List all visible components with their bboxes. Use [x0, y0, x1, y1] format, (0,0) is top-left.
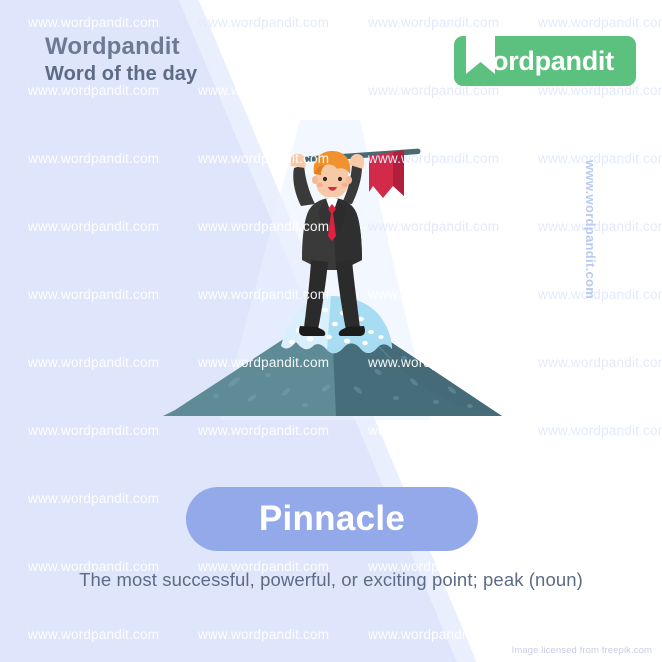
- word-of-the-day: Pinnacle: [259, 499, 405, 539]
- logo-text: ordpandit: [492, 36, 614, 86]
- page-title: Wordpandit: [45, 34, 197, 60]
- brand-block: Wordpandit Word of the day: [45, 34, 197, 86]
- word-definition: The most successful, powerful, or exciti…: [0, 569, 662, 591]
- image-credit: Image licensed from freepik.com: [512, 645, 652, 656]
- watermark-side-vertical: www.wordpandit.com: [583, 160, 598, 299]
- word-pill: Pinnacle: [186, 487, 478, 551]
- bookmark-icon: [466, 28, 495, 80]
- illustration-businessman-on-peak: [0, 120, 662, 430]
- word-of-the-day-card: www.wordpandit.comwww.wordpandit.comwww.…: [0, 0, 662, 662]
- wordpandit-logo[interactable]: ordpandit: [454, 36, 636, 86]
- page-subtitle: Word of the day: [45, 63, 197, 86]
